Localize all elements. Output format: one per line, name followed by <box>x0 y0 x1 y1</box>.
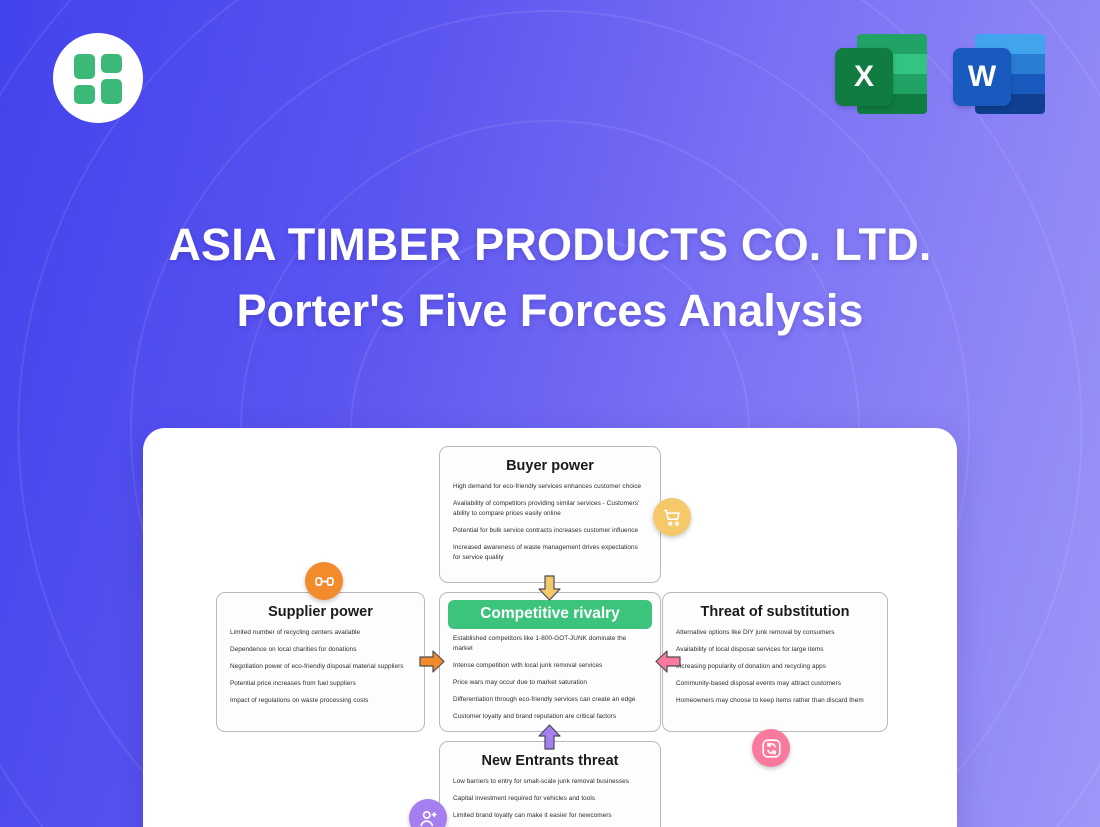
list-item: Dependence on local charities for donati… <box>230 645 411 655</box>
word-icon[interactable]: W <box>953 28 1045 120</box>
list-item: Homeowners may choose to keep items rath… <box>676 696 874 706</box>
add-user-icon <box>418 808 439 827</box>
porters-five-forces-diagram: Buyer power High demand for eco-friendly… <box>143 428 957 827</box>
brand-logo[interactable] <box>53 33 143 123</box>
arrow-down-buyer-to-rivalry <box>536 575 563 601</box>
title-line-subtitle: Porter's Five Forces Analysis <box>0 286 1100 336</box>
force-title-supplier: Supplier power <box>225 600 416 627</box>
list-item: Availability of competitors providing si… <box>453 499 647 519</box>
chain-link-icon <box>314 571 335 592</box>
arrow-up-entrants-to-rivalry <box>536 724 563 750</box>
list-item: Potential for bulk service contracts inc… <box>453 526 647 536</box>
list-item: Impact of regulations on waste processin… <box>230 696 411 706</box>
list-item: Customer loyalty and brand reputation ar… <box>453 712 647 722</box>
force-title-rivalry: Competitive rivalry <box>448 600 652 629</box>
arrow-left-substitution-to-rivalry <box>655 648 681 675</box>
force-points-buyer: High demand for eco-friendly services en… <box>448 481 652 563</box>
export-icons-group: X W <box>835 28 1045 120</box>
list-item: Low barriers to entry for small-scale ju… <box>453 777 647 787</box>
excel-icon-letter: X <box>835 48 893 106</box>
list-item: Increasing popularity of donation and re… <box>676 662 874 672</box>
badge-buyer-power[interactable] <box>653 498 691 536</box>
page-title: ASIA TIMBER PRODUCTS CO. LTD. Porter's F… <box>0 220 1100 335</box>
word-icon-letter: W <box>953 48 1011 106</box>
shopping-cart-icon <box>662 507 683 528</box>
diagram-card: Buyer power High demand for eco-friendly… <box>143 428 957 827</box>
force-points-supplier: Limited number of recycling centers avai… <box>225 627 416 706</box>
list-item: Community-based disposal events may attr… <box>676 679 874 689</box>
force-points-entrants: Low barriers to entry for small-scale ju… <box>448 776 652 821</box>
grid-logo-icon <box>74 54 122 102</box>
badge-threat-of-substitution[interactable] <box>752 729 790 767</box>
list-item: Price wars may occur due to market satur… <box>453 678 647 688</box>
excel-icon[interactable]: X <box>835 28 927 120</box>
list-item: Limited number of recycling centers avai… <box>230 628 411 638</box>
list-item: Negotiation power of eco-friendly dispos… <box>230 662 411 672</box>
force-box-new-entrants-threat[interactable]: New Entrants threat Low barriers to entr… <box>439 741 661 827</box>
list-item: Capital investment required for vehicles… <box>453 794 647 804</box>
force-title-buyer: Buyer power <box>448 454 652 481</box>
list-item: Established competitors like 1-800-GOT-J… <box>453 634 647 654</box>
force-box-competitive-rivalry[interactable]: Competitive rivalry Established competit… <box>439 592 661 732</box>
force-points-substitution: Alternative options like DIY junk remova… <box>671 627 879 706</box>
list-item: Availability of local disposal services … <box>676 645 874 655</box>
list-item: Alternative options like DIY junk remova… <box>676 628 874 638</box>
list-item: Intense competition with local junk remo… <box>453 661 647 671</box>
list-item: High demand for eco-friendly services en… <box>453 482 647 492</box>
force-title-substitution: Threat of substitution <box>671 600 879 627</box>
arrow-right-supplier-to-rivalry <box>419 648 445 675</box>
force-title-entrants: New Entrants threat <box>448 749 652 776</box>
refresh-icon <box>761 738 782 759</box>
list-item: Increased awareness of waste management … <box>453 543 647 563</box>
force-box-buyer-power[interactable]: Buyer power High demand for eco-friendly… <box>439 446 661 583</box>
slide-canvas: X W ASIA TIMBER PRODUCTS CO. LTD. Porter… <box>0 0 1100 827</box>
force-box-supplier-power[interactable]: Supplier power Limited number of recycli… <box>216 592 425 732</box>
list-item: Differentiation through eco-friendly ser… <box>453 695 647 705</box>
badge-supplier-power[interactable] <box>305 562 343 600</box>
title-line-company: ASIA TIMBER PRODUCTS CO. LTD. <box>0 220 1100 270</box>
force-box-threat-of-substitution[interactable]: Threat of substitution Alternative optio… <box>662 592 888 732</box>
force-points-rivalry: Established competitors like 1-800-GOT-J… <box>448 633 652 722</box>
list-item: Limited brand loyalty can make it easier… <box>453 811 647 821</box>
list-item: Potential price increases from fuel supp… <box>230 679 411 689</box>
